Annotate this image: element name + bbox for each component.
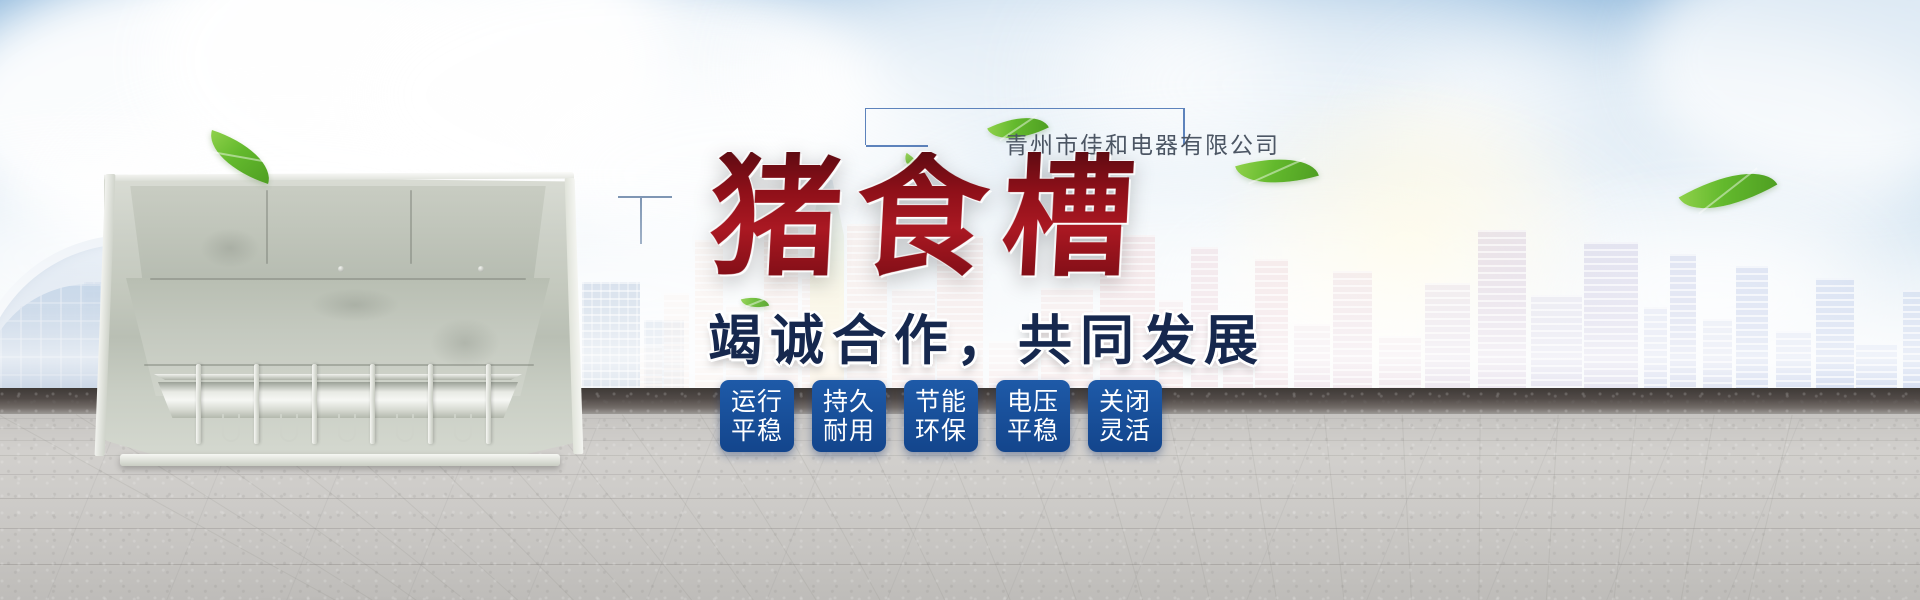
feeder-divider bbox=[196, 364, 201, 444]
surface-smudge bbox=[430, 318, 500, 368]
surface-smudge bbox=[310, 288, 400, 322]
subtitle: 竭诚合作，共同发展 bbox=[708, 296, 1266, 375]
feeder-hook bbox=[338, 414, 356, 442]
feeder-divider bbox=[254, 364, 259, 444]
badge-line-2: 平稳 bbox=[731, 416, 783, 446]
feature-badge-1[interactable]: 持久 耐用 bbox=[812, 380, 886, 452]
promo-banner: 青州市佳和电器有限公司 猪食槽 竭诚合作，共同发展 运行 平稳 持久 耐用 节能… bbox=[0, 0, 1920, 600]
trough-rail bbox=[154, 374, 522, 380]
badge-line-1: 关闭 bbox=[1099, 387, 1151, 417]
feature-badge-2[interactable]: 节能 环保 bbox=[904, 380, 978, 452]
feeder-hook bbox=[396, 414, 414, 442]
trough-bottom-lip bbox=[120, 454, 560, 466]
feature-badge-list: 运行 平稳 持久 耐用 节能 环保 电压 平稳 关闭 灵活 bbox=[720, 380, 1162, 452]
badge-line-2: 耐用 bbox=[823, 416, 875, 446]
badge-line-2: 环保 bbox=[915, 416, 967, 446]
badge-line-1: 运行 bbox=[731, 387, 783, 417]
feeder-hook bbox=[222, 414, 240, 442]
feed-channel bbox=[158, 382, 518, 418]
banner-copy: 青州市佳和电器有限公司 猪食槽 竭诚合作，共同发展 运行 平稳 持久 耐用 节能… bbox=[620, 80, 1820, 560]
skyline-building bbox=[1903, 290, 1920, 394]
badge-line-1: 持久 bbox=[823, 387, 875, 417]
weld-seam bbox=[266, 190, 268, 264]
trough-top-rim bbox=[104, 172, 574, 181]
feeder-divider bbox=[486, 364, 491, 444]
feeder-divider bbox=[312, 364, 317, 444]
skyline-building bbox=[1856, 343, 1897, 394]
feature-badge-4[interactable]: 关闭 灵活 bbox=[1088, 380, 1162, 452]
feeder-hook bbox=[280, 414, 298, 442]
badge-line-1: 电压 bbox=[1007, 387, 1059, 417]
weld-seam bbox=[410, 190, 412, 264]
page-title: 猪食槽 bbox=[707, 152, 1152, 284]
badge-line-2: 灵活 bbox=[1099, 416, 1151, 446]
badge-line-1: 节能 bbox=[915, 387, 967, 417]
feeder-divider bbox=[428, 364, 433, 444]
feeder-divider bbox=[370, 364, 375, 444]
weld-seam bbox=[150, 278, 526, 280]
feature-badge-3[interactable]: 电压 平稳 bbox=[996, 380, 1070, 452]
feature-badge-0[interactable]: 运行 平稳 bbox=[720, 380, 794, 452]
rivet bbox=[478, 266, 484, 272]
product-pig-feeding-trough bbox=[80, 168, 600, 468]
feeder-hook bbox=[454, 414, 472, 442]
skyline-building bbox=[1816, 278, 1854, 394]
rivet bbox=[338, 266, 344, 272]
badge-line-2: 平稳 bbox=[1007, 416, 1059, 446]
surface-smudge bbox=[200, 228, 260, 268]
